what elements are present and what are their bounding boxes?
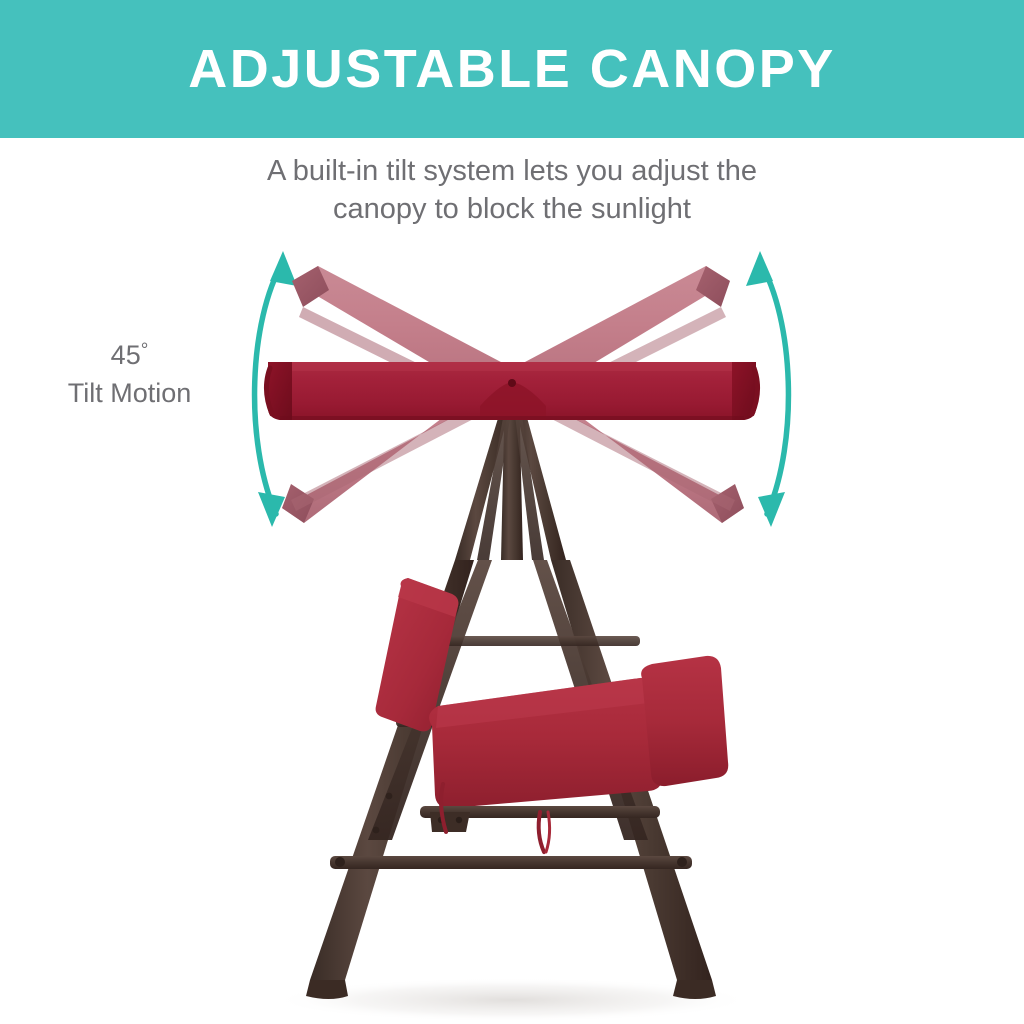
infographic-page: ADJUSTABLE CANOPY A built-in tilt system… xyxy=(0,0,1024,1024)
canopy-level xyxy=(266,362,757,420)
swing-seat-assembly xyxy=(373,578,729,852)
product-illustration xyxy=(0,0,1024,1024)
side-cushion xyxy=(641,656,728,786)
